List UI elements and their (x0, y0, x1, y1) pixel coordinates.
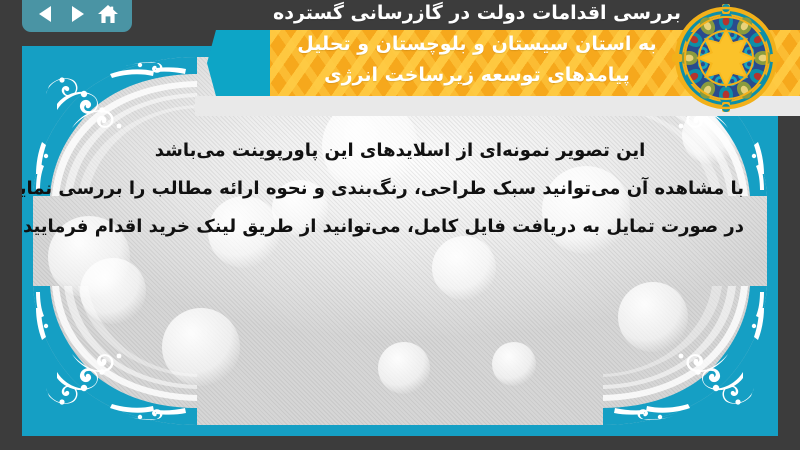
triangle-left-icon (36, 4, 56, 24)
body-line-2: با مشاهده آن می‌توانید سبک طراحی، رنگ‌بن… (56, 170, 744, 208)
slide-viewer: این تصویر نمونه‌ای از اسلایدهای این پاور… (0, 0, 800, 450)
banner-top-mask (195, 0, 675, 30)
banner-arrow-shape (207, 30, 271, 96)
body-line-1: این تصویر نمونه‌ای از اسلایدهای این پاور… (56, 132, 744, 170)
arabesque-corner-ornament-bottom-right (603, 286, 778, 436)
body-line-3: در صورت تمایل به دریافت فایل کامل، می‌تو… (56, 208, 744, 246)
arabesque-corner-ornament-bottom-left (22, 286, 197, 436)
next-slide-button[interactable] (64, 1, 90, 27)
persian-mandala-medallion (670, 2, 782, 114)
previous-slide-button[interactable] (33, 1, 59, 27)
home-button[interactable] (95, 1, 121, 27)
triangle-right-icon (67, 4, 87, 24)
home-icon (97, 4, 119, 24)
slide-body-text: این تصویر نمونه‌ای از اسلایدهای این پاور… (22, 132, 778, 246)
slide-navigation-bar[interactable] (22, 0, 132, 32)
